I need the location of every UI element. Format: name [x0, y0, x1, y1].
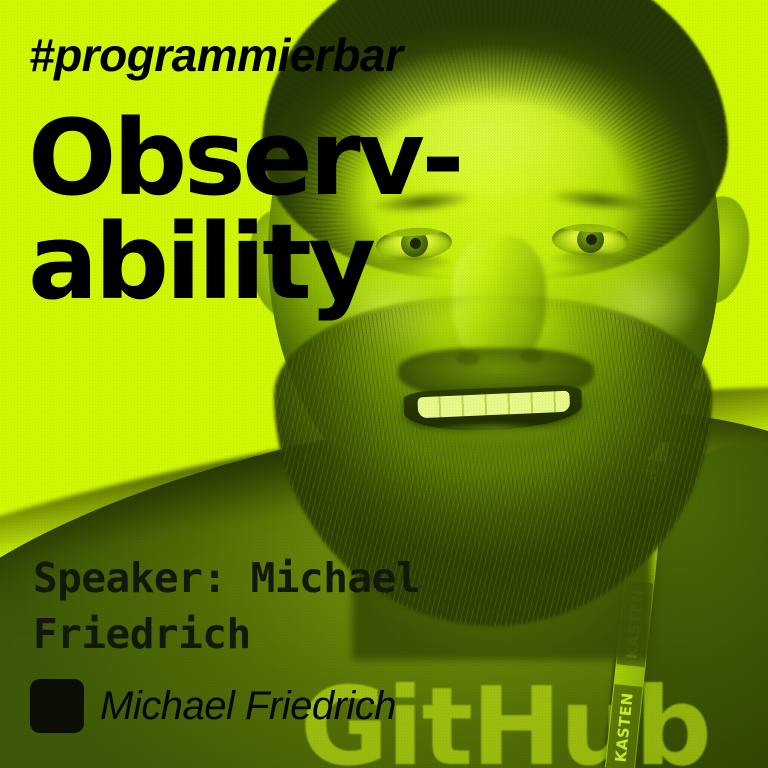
lanyard-tag-text: KASTEN — [612, 692, 637, 764]
lower-lip-highlight — [412, 424, 574, 446]
social-handle-row[interactable]: Michael Friedrich — [30, 679, 396, 733]
speaker-credit: Speaker: Michael Friedrich — [33, 551, 503, 663]
teeth — [417, 391, 570, 419]
episode-title-line-1: Observ- — [28, 106, 461, 210]
brand-hashtag: #programmierbar — [29, 28, 402, 82]
podcast-episode-cover: GitHub KASTEN KASTEN KASTEN — [0, 0, 768, 768]
linkedin-icon[interactable] — [30, 679, 84, 733]
pupil-right — [585, 233, 597, 245]
episode-title: Observ- ability — [28, 106, 461, 314]
episode-title-line-2: ability — [28, 210, 461, 314]
social-handle-label: Michael Friedrich — [100, 684, 396, 729]
